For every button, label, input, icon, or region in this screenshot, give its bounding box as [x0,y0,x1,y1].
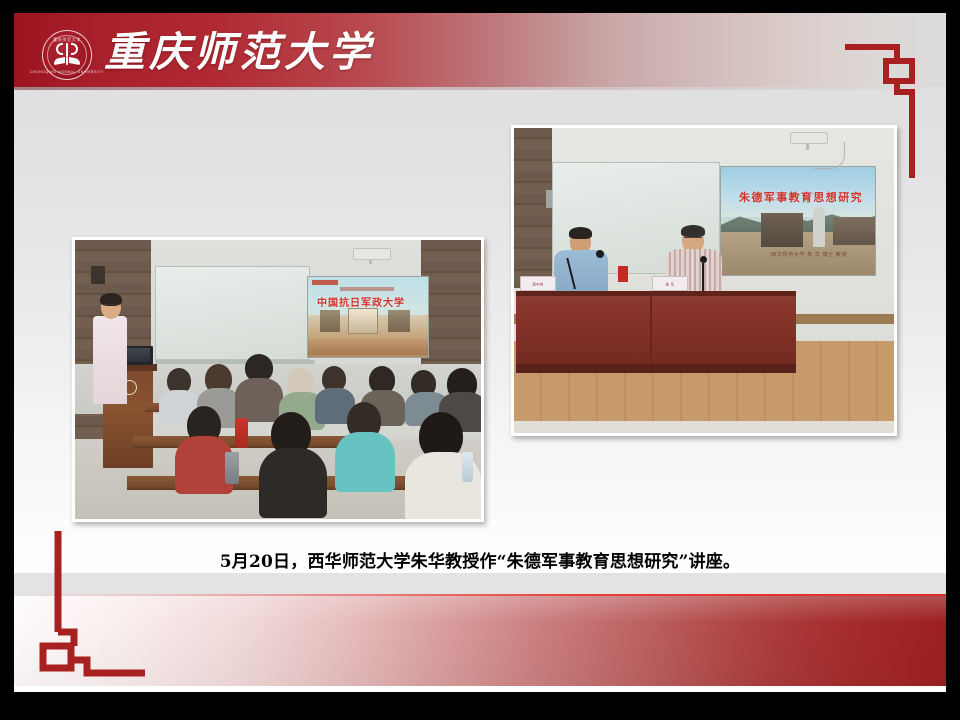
speaker-table-edge [516,291,796,296]
logo-stem [66,43,69,57]
person-right-glasses-icon [684,237,702,241]
header-shadow [14,87,946,90]
logo-wing-left [56,43,63,55]
proj-building [761,213,803,247]
proj-wall-right [833,217,875,245]
nameplate-right-text: 朱 华 [653,281,687,286]
projection-photo-3 [388,310,410,332]
water-bottle [462,452,473,482]
audience-body-10 [259,448,327,518]
table-leg-shadow [516,364,796,373]
projection-banner [312,280,338,285]
logo-arc-bottom-text: CHONGQING NORMAL UNIVERSITY [30,70,104,74]
logo-wing-right [71,43,78,55]
whiteboard [155,266,310,360]
person-left-hair [569,227,592,239]
logo-book-right [69,57,80,65]
photo-left-scene: 中国抗日军政大学 [75,240,481,519]
university-name-title: 重庆师范大学 [104,26,374,78]
proj-statue [813,207,825,247]
wall-speaker-box [91,266,105,284]
nameplate-left: 周中树 [520,276,556,291]
projection-photo-2 [348,308,378,334]
floor-front-strip [514,421,894,433]
projection-title-left: 中国抗日军政大学 [317,294,405,309]
audience-body-3 [235,378,283,422]
whiteboard-clip-icon [546,190,552,208]
nameplate-right: 朱 华 [652,276,688,291]
logo-mark-icon [54,42,80,66]
projector-device [353,248,391,260]
wood-column-left [514,128,552,288]
footer-white-strip [14,686,946,692]
projection-subheading [340,287,394,291]
slide-canvas: 重庆师范大学 CHONGQING NORMAL UNIVERSITY 重庆师范大… [14,13,946,692]
photo-right: 朱德军事教育思想研究 西华师范大学 朱 华 博士 教授 [511,125,897,436]
desk-row-2 [133,436,363,448]
projection-screen: 中国抗日军政大学 [307,276,429,358]
thermos-red [235,418,248,448]
flag-small [618,266,628,282]
projection-subtitle-right: 西华师范大学 朱 华 博士 教授 [771,251,847,258]
speaker-person [93,316,127,404]
microphone-head-left [596,250,604,258]
photo-right-scene: 朱德军事教育思想研究 西华师范大学 朱 华 博士 教授 [514,128,894,433]
microphone-stem-right [702,263,704,291]
chinese-corner-ornament-bottom-left [27,528,182,680]
audience-body-11 [335,432,395,492]
table-panel-divider [650,296,652,373]
projection-screen-right: 朱德军事教育思想研究 西华师范大学 朱 华 博士 教授 [720,166,876,276]
photo-left: 中国抗日军政大学 [72,237,484,522]
microphone-head-right [700,256,707,263]
logo-book-left [54,57,65,65]
projection-cloud [308,339,428,355]
university-logo-icon: 重庆师范大学 CHONGQING NORMAL UNIVERSITY [42,30,92,80]
thermos-grey [225,452,239,484]
nameplate-left-text: 周中树 [521,281,555,286]
speaker-glasses-icon [103,304,119,308]
person-right-hair [681,225,705,237]
speaker-table [516,291,796,373]
slide-root: 重庆师范大学 CHONGQING NORMAL UNIVERSITY 重庆师范大… [0,0,960,720]
projector-cable [814,142,845,169]
logo-book-spine [66,57,68,65]
projection-title-right: 朱德军事教育思想研究 [739,189,863,205]
projection-photo-1 [320,310,340,332]
